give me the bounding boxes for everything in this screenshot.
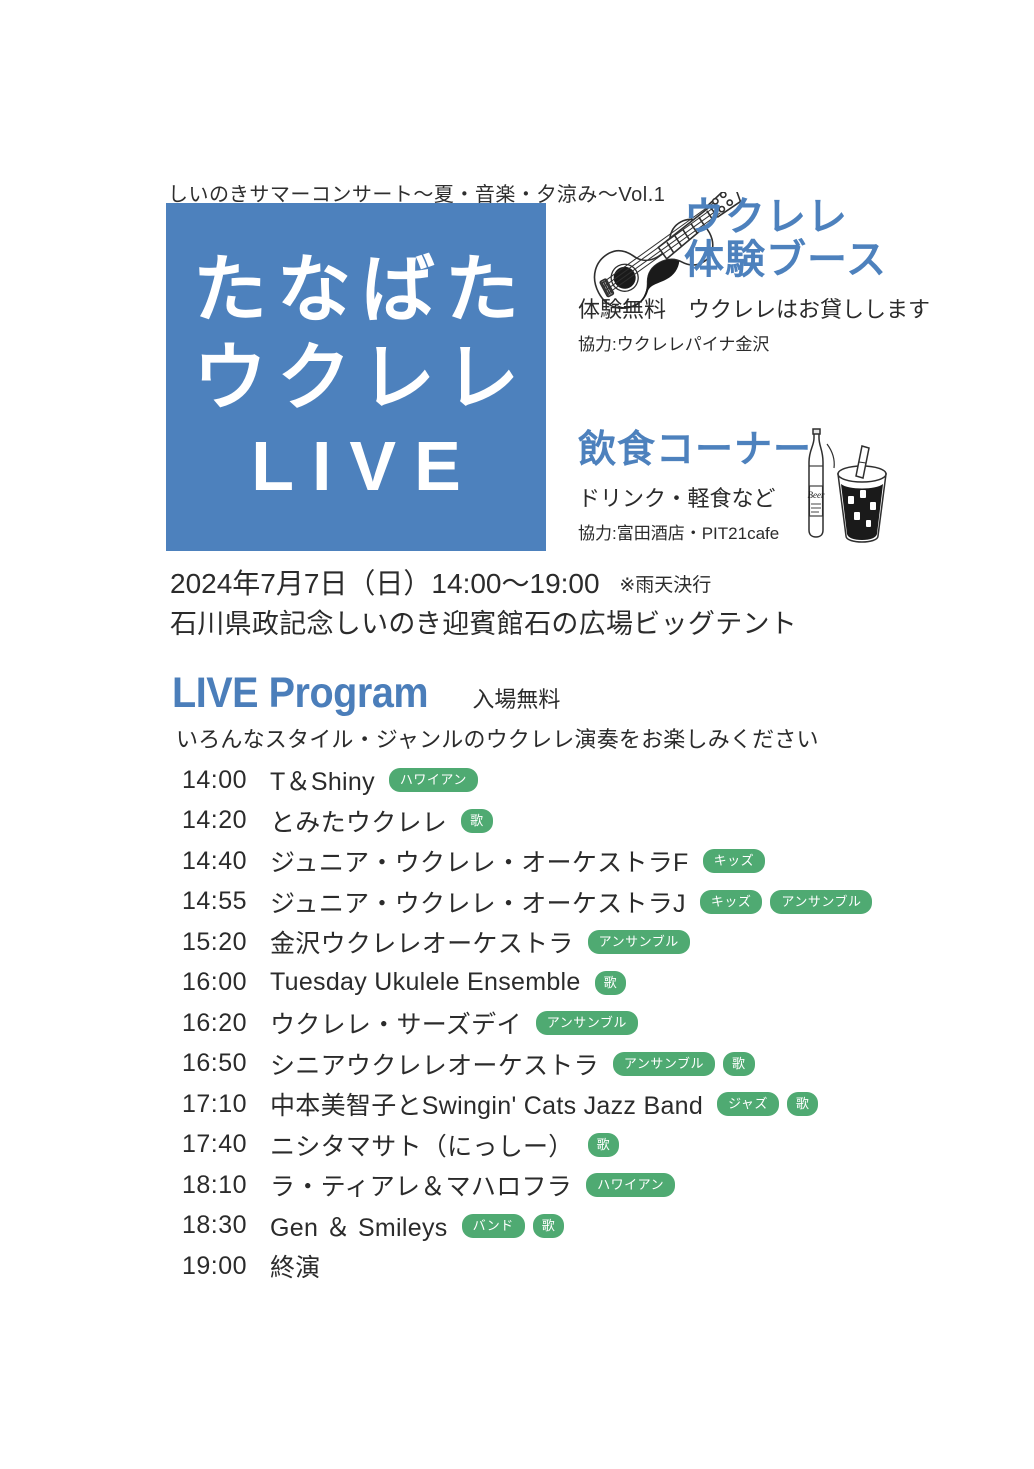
schedule-tag-group: バンド歌 bbox=[462, 1214, 565, 1238]
rain-note: ※雨天決行 bbox=[619, 575, 711, 596]
schedule-act-name: ウクレレ・サーズデイ bbox=[270, 1005, 522, 1041]
schedule-row: 16:50シニアウクレレオーケストラアンサンブル歌 bbox=[182, 1044, 982, 1085]
ukulele-booth-note: 体験無料 ウクレレはお貸しします bbox=[578, 292, 998, 324]
event-logo-block: たなばた ウクレレ LIVE bbox=[166, 203, 546, 551]
schedule-row: 14:00T＆Shinyハワイアン bbox=[182, 760, 982, 801]
genre-tag: アンサンブル bbox=[613, 1052, 715, 1076]
schedule-row: 17:40ニシタマサト（にっしー）歌 bbox=[182, 1125, 982, 1166]
genre-tag: アンサンブル bbox=[770, 890, 872, 914]
food-booth: 飲食コーナー ドリンク・軽食など 協力:富田酒店・PIT21cafe bbox=[578, 430, 998, 544]
schedule-tag-group: キッズ bbox=[703, 849, 766, 873]
schedule-row: 18:10ラ・ティアレ＆マハロフラハワイアン bbox=[182, 1165, 982, 1206]
poster-canvas: しいのきサマーコンサート〜夏・音楽・夕涼み〜Vol.1 たなばた ウクレレ LI… bbox=[0, 0, 1034, 1469]
schedule-act-name: 金沢ウクレレオーケストラ bbox=[270, 924, 574, 960]
logo-line-ukulele: ウクレレ bbox=[183, 341, 529, 415]
schedule-row: 16:20ウクレレ・サーズデイアンサンブル bbox=[182, 1003, 982, 1044]
schedule-act-name: ジュニア・ウクレレ・オーケストラF bbox=[270, 843, 689, 879]
ukulele-booth-heading-line1: ウクレレ bbox=[684, 196, 998, 239]
schedule-row: 15:20金沢ウクレレオーケストラアンサンブル bbox=[182, 922, 982, 963]
schedule-tag-group: ハワイアン bbox=[586, 1173, 675, 1197]
schedule-time: 14:00 bbox=[182, 766, 264, 795]
schedule-tag-group: ジャズ歌 bbox=[717, 1092, 818, 1116]
genre-tag: 歌 bbox=[533, 1214, 565, 1238]
genre-tag: アンサンブル bbox=[536, 1011, 638, 1035]
genre-tag: ハワイアン bbox=[586, 1173, 675, 1197]
ukulele-booth: ウクレレ 体験ブース 体験無料 ウクレレはお貸しします 協力:ウクレレパイナ金沢 bbox=[578, 196, 998, 355]
schedule-time: 19:00 bbox=[182, 1252, 264, 1281]
schedule-act-name: ジュニア・ウクレレ・オーケストラJ bbox=[270, 884, 686, 920]
schedule-row: 14:55ジュニア・ウクレレ・オーケストラJキッズアンサンブル bbox=[182, 882, 982, 923]
program-title: LIVE Program bbox=[172, 672, 428, 715]
logo-line-live: LIVE bbox=[233, 431, 479, 501]
genre-tag: 歌 bbox=[461, 809, 493, 833]
schedule-act-name: ニシタマサト（にっしー） bbox=[270, 1127, 574, 1163]
genre-tag: アンサンブル bbox=[588, 930, 690, 954]
schedule-act-name: T＆Shiny bbox=[270, 762, 375, 798]
schedule-row: 14:40ジュニア・ウクレレ・オーケストラFキッズ bbox=[182, 841, 982, 882]
schedule-time: 17:10 bbox=[182, 1090, 264, 1119]
schedule-act-name: 中本美智子とSwingin' Cats Jazz Band bbox=[270, 1086, 703, 1122]
program-subtitle: いろんなスタイル・ジャンルのウクレレ演奏をお楽しみください bbox=[176, 722, 819, 754]
event-venue: 石川県政記念しいのき迎賓館石の広場ビッグテント bbox=[170, 602, 797, 641]
genre-tag: キッズ bbox=[703, 849, 766, 873]
program-schedule-list: 14:00T＆Shinyハワイアン14:20とみたウクレレ歌14:40ジュニア・… bbox=[182, 760, 982, 1287]
schedule-tag-group: アンサンブル bbox=[536, 1011, 638, 1035]
ukulele-booth-heading-line2: 体験ブース bbox=[684, 239, 998, 282]
schedule-act-name: 終演 bbox=[270, 1248, 321, 1284]
schedule-row: 14:20とみたウクレレ歌 bbox=[182, 801, 982, 842]
schedule-row: 18:30Gen ＆ Smileysバンド歌 bbox=[182, 1206, 982, 1247]
schedule-time: 18:30 bbox=[182, 1211, 264, 1240]
ukulele-booth-heading: ウクレレ 体験ブース bbox=[684, 196, 998, 282]
event-datetime: 2024年7月7日（日）14:00〜19:00 ※雨天決行 bbox=[170, 562, 711, 602]
schedule-act-name: Tuesday Ukulele Ensemble bbox=[270, 968, 581, 997]
schedule-time: 14:55 bbox=[182, 887, 264, 916]
ukulele-booth-credit: 協力:ウクレレパイナ金沢 bbox=[578, 330, 998, 355]
genre-tag: 歌 bbox=[787, 1092, 819, 1116]
schedule-time: 17:40 bbox=[182, 1130, 264, 1159]
schedule-time: 16:50 bbox=[182, 1049, 264, 1078]
schedule-time: 14:40 bbox=[182, 847, 264, 876]
program-header: LIVE Program 入場無料 bbox=[172, 672, 560, 715]
genre-tag: 歌 bbox=[723, 1052, 755, 1076]
schedule-tag-group: 歌 bbox=[595, 971, 627, 995]
schedule-tag-group: アンサンブル bbox=[588, 930, 690, 954]
schedule-row: 16:00Tuesday Ukulele Ensemble歌 bbox=[182, 963, 982, 1004]
genre-tag: 歌 bbox=[588, 1133, 620, 1157]
food-booth-heading: 飲食コーナー bbox=[578, 430, 998, 471]
logo-line-tanabata: たなばた bbox=[183, 253, 529, 327]
schedule-tag-group: キッズアンサンブル bbox=[700, 890, 873, 914]
genre-tag: バンド bbox=[462, 1214, 525, 1238]
event-datetime-value: 2024年7月7日（日）14:00〜19:00 bbox=[170, 568, 600, 599]
schedule-tag-group: 歌 bbox=[588, 1133, 620, 1157]
schedule-tag-group: ハワイアン bbox=[389, 768, 478, 792]
genre-tag: 歌 bbox=[595, 971, 627, 995]
schedule-row: 17:10中本美智子とSwingin' Cats Jazz Bandジャズ歌 bbox=[182, 1084, 982, 1125]
schedule-act-name: ラ・ティアレ＆マハロフラ bbox=[270, 1167, 572, 1203]
food-booth-note: ドリンク・軽食など bbox=[578, 481, 998, 513]
genre-tag: キッズ bbox=[700, 890, 763, 914]
food-booth-credit: 協力:富田酒店・PIT21cafe bbox=[578, 519, 998, 544]
schedule-time: 15:20 bbox=[182, 928, 264, 957]
schedule-tag-group: アンサンブル歌 bbox=[613, 1052, 755, 1076]
admission-free-label: 入場無料 bbox=[472, 689, 560, 715]
genre-tag: ハワイアン bbox=[389, 768, 478, 792]
genre-tag: ジャズ bbox=[717, 1092, 779, 1116]
schedule-act-name: Gen ＆ Smileys bbox=[270, 1208, 448, 1244]
schedule-time: 16:20 bbox=[182, 1009, 264, 1038]
schedule-act-name: シニアウクレレオーケストラ bbox=[270, 1046, 599, 1082]
schedule-tag-group: 歌 bbox=[461, 809, 493, 833]
schedule-act-name: とみたウクレレ bbox=[270, 803, 447, 839]
schedule-time: 14:20 bbox=[182, 806, 264, 835]
schedule-time: 16:00 bbox=[182, 968, 264, 997]
schedule-time: 18:10 bbox=[182, 1171, 264, 1200]
schedule-row: 19:00終演 bbox=[182, 1246, 982, 1287]
